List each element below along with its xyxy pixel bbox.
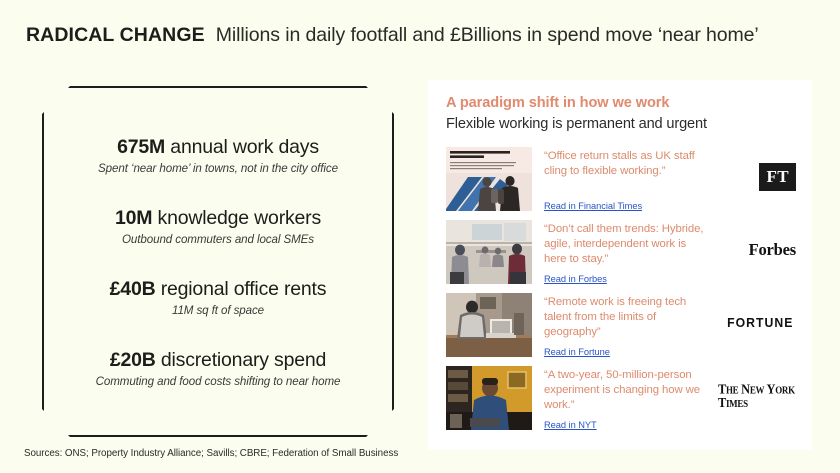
publisher-logo: Forbes [718, 220, 796, 284]
stat-headline: 10M knowledge workers [70, 206, 366, 230]
stat-block: 675M annual work days Spent ‘near home’ … [70, 135, 366, 175]
sources-note: Sources: ONS; Property Industry Alliance… [24, 448, 398, 459]
ft-article-thumbnail [446, 147, 532, 211]
news-item: “Don’t call them trends: Hybride, agile,… [446, 220, 796, 284]
news-item: “Office return stalls as UK staff cling … [446, 147, 796, 211]
stat-headline: £40B regional office rents [70, 277, 366, 301]
news-link[interactable]: Read in Fortune [544, 347, 610, 357]
stat-block: £40B regional office rents 11M sq ft of … [70, 277, 366, 317]
home-desk-thumbnail [446, 293, 532, 357]
news-panel-subtitle: Flexible working is permanent and urgent [446, 115, 796, 134]
news-item: “Remote work is freeing tech talent from… [446, 293, 796, 357]
news-body: “Remote work is freeing tech talent from… [544, 293, 706, 357]
news-link[interactable]: Read in Financial Times [544, 201, 642, 211]
news-link[interactable]: Read in NYT [544, 420, 597, 430]
news-panel: A paradigm shift in how we work Flexible… [428, 80, 812, 450]
stat-subtext: Spent ‘near home’ in towns, not in the c… [70, 162, 366, 175]
forbes-logo: Forbes [749, 242, 796, 259]
stat-label: knowledge workers [152, 207, 321, 229]
publisher-logo: FORTUNE [718, 293, 796, 357]
stat-figure: £40B [110, 278, 156, 300]
new-york-times-logo: The New York Times [718, 382, 796, 410]
stat-headline: £20B discretionary spend [70, 348, 366, 372]
stat-figure: £20B [110, 349, 156, 371]
news-quote: “Office return stalls as UK staff cling … [544, 149, 706, 179]
financial-times-logo: FT [759, 163, 796, 191]
fortune-logo: FORTUNE [728, 316, 794, 329]
stats-panel: 675M annual work days Spent ‘near home’ … [42, 86, 394, 437]
news-list: “Office return stalls as UK staff cling … [446, 147, 796, 430]
office-meeting-thumbnail [446, 220, 532, 284]
news-quote: “A two-year, 50-million-person experimen… [544, 368, 706, 413]
stat-label: discretionary spend [156, 349, 327, 371]
slide-header: RADICAL CHANGE Millions in daily footfal… [26, 24, 759, 47]
news-item: “A two-year, 50-million-person experimen… [446, 366, 796, 430]
news-panel-title: A paradigm shift in how we work [446, 94, 796, 113]
stat-subtext: Outbound commuters and local SMEs [70, 233, 366, 246]
stat-subtext: 11M sq ft of space [70, 304, 366, 317]
header-headline: Millions in daily footfall and £Billions… [216, 24, 759, 47]
stat-block: 10M knowledge workers Outbound commuters… [70, 206, 366, 246]
news-quote: “Don’t call them trends: Hybride, agile,… [544, 222, 706, 267]
stat-label: annual work days [165, 136, 319, 158]
news-body: “Office return stalls as UK staff cling … [544, 147, 706, 211]
news-quote: “Remote work is freeing tech talent from… [544, 295, 706, 340]
news-body: “A two-year, 50-million-person experimen… [544, 366, 706, 430]
man-at-laptop-thumbnail [446, 366, 532, 430]
stat-block: £20B discretionary spend Commuting and f… [70, 348, 366, 388]
news-link[interactable]: Read in Forbes [544, 274, 607, 284]
publisher-logo: The New York Times [718, 366, 796, 430]
stat-subtext: Commuting and food costs shifting to nea… [70, 375, 366, 388]
stat-label: regional office rents [155, 278, 326, 300]
stat-figure: 675M [117, 136, 165, 158]
header-kicker: RADICAL CHANGE [26, 24, 205, 47]
stat-figure: 10M [115, 207, 152, 229]
news-body: “Don’t call them trends: Hybride, agile,… [544, 220, 706, 284]
publisher-logo: FT [718, 147, 796, 211]
stat-headline: 675M annual work days [70, 135, 366, 159]
